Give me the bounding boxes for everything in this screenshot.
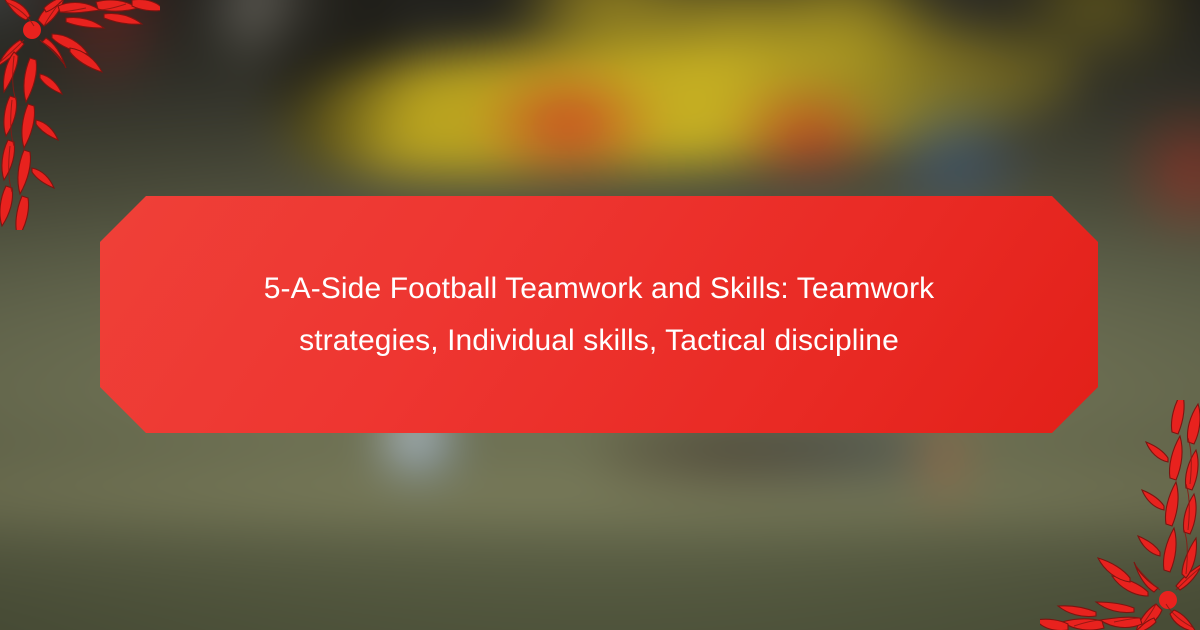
page-title: 5-A-Side Football Teamwork and Skills: T… <box>199 263 999 367</box>
cover-image-canvas: 5-A-Side Football Teamwork and Skills: T… <box>0 0 1200 630</box>
title-banner: 5-A-Side Football Teamwork and Skills: T… <box>100 196 1098 433</box>
